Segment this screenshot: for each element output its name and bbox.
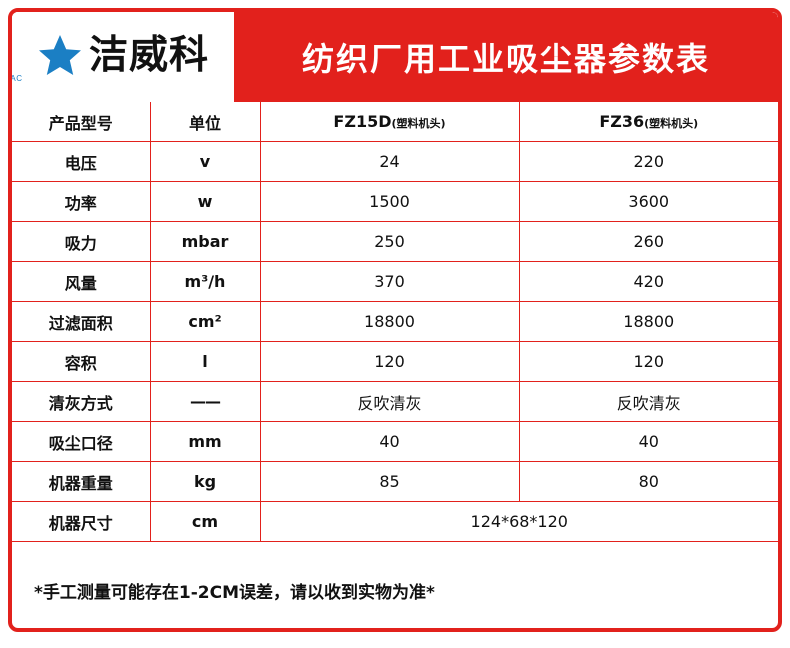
table-row: 吸尘口径 mm 40 40 bbox=[12, 422, 778, 462]
column-header-unit: 单位 bbox=[150, 102, 260, 142]
table-row: 清灰方式 —— 反吹清灰 反吹清灰 bbox=[12, 382, 778, 422]
row-unit: m³/h bbox=[150, 262, 260, 302]
row-label: 风量 bbox=[12, 262, 150, 302]
table-row-merged: 机器尺寸 cm 124*68*120 bbox=[12, 502, 778, 542]
logo-text-en: CLEANVAC bbox=[8, 74, 23, 83]
row-label: 过滤面积 bbox=[12, 302, 150, 342]
row-label: 吸力 bbox=[12, 222, 150, 262]
row-label: 容积 bbox=[12, 342, 150, 382]
row-unit: kg bbox=[150, 462, 260, 502]
row-value-fz15d: 40 bbox=[260, 422, 519, 462]
table-header-row: 产品型号 单位 FZ15D(塑料机头) FZ36(塑料机头) bbox=[12, 102, 778, 142]
row-value-fz15d: 370 bbox=[260, 262, 519, 302]
row-value-fz15d: 250 bbox=[260, 222, 519, 262]
row-value-fz15d: 18800 bbox=[260, 302, 519, 342]
spec-table: 产品型号 单位 FZ15D(塑料机头) FZ36(塑料机头) 电压 v 24 2… bbox=[12, 102, 778, 542]
row-label: 机器重量 bbox=[12, 462, 150, 502]
table-row: 风量 m³/h 370 420 bbox=[12, 262, 778, 302]
row-unit: v bbox=[150, 142, 260, 182]
row-value-fz36: 120 bbox=[519, 342, 778, 382]
title-banner: 纺织厂用工业吸尘器参数表 bbox=[234, 12, 778, 102]
row-unit: —— bbox=[150, 382, 260, 422]
table-row: 过滤面积 cm² 18800 18800 bbox=[12, 302, 778, 342]
table-row: 电压 v 24 220 bbox=[12, 142, 778, 182]
row-value-fz36: 220 bbox=[519, 142, 778, 182]
row-value-fz36: 80 bbox=[519, 462, 778, 502]
row-value-fz36: 18800 bbox=[519, 302, 778, 342]
row-value-fz36: 40 bbox=[519, 422, 778, 462]
footnote: *手工测量可能存在1-2CM误差，请以收到实物为准* bbox=[12, 542, 778, 632]
star-icon bbox=[37, 32, 83, 78]
table-row: 机器重量 kg 85 80 bbox=[12, 462, 778, 502]
row-label: 功率 bbox=[12, 182, 150, 222]
model-suffix-1: (塑料机头) bbox=[392, 117, 446, 130]
row-unit: cm bbox=[150, 502, 260, 542]
column-header-fz36: FZ36(塑料机头) bbox=[519, 102, 778, 142]
model-suffix-2: (塑料机头) bbox=[644, 117, 698, 130]
page-title: 纺织厂用工业吸尘器参数表 bbox=[302, 34, 710, 80]
row-unit: l bbox=[150, 342, 260, 382]
row-unit: w bbox=[150, 182, 260, 222]
spec-sheet: 洁威科 CLEANVAC 纺织厂用工业吸尘器参数表 产品型号 单位 FZ15D(… bbox=[0, 0, 790, 648]
column-header-fz15d: FZ15D(塑料机头) bbox=[260, 102, 519, 142]
model-name-2: FZ36 bbox=[599, 112, 644, 131]
column-header-model: 产品型号 bbox=[12, 102, 150, 142]
row-value-fz36: 3600 bbox=[519, 182, 778, 222]
row-value-fz36: 260 bbox=[519, 222, 778, 262]
row-value-fz15d: 24 bbox=[260, 142, 519, 182]
logo-text-cn: 洁威科 bbox=[89, 36, 209, 75]
row-label: 电压 bbox=[12, 142, 150, 182]
table-row: 容积 l 120 120 bbox=[12, 342, 778, 382]
model-name-1: FZ15D bbox=[333, 112, 391, 131]
row-value-fz36: 420 bbox=[519, 262, 778, 302]
table-row: 功率 w 1500 3600 bbox=[12, 182, 778, 222]
row-label: 机器尺寸 bbox=[12, 502, 150, 542]
spec-frame: 洁威科 CLEANVAC 纺织厂用工业吸尘器参数表 产品型号 单位 FZ15D(… bbox=[8, 8, 782, 632]
row-value-fz15d: 120 bbox=[260, 342, 519, 382]
row-label: 清灰方式 bbox=[12, 382, 150, 422]
table-row: 吸力 mbar 250 260 bbox=[12, 222, 778, 262]
header: 洁威科 CLEANVAC 纺织厂用工业吸尘器参数表 bbox=[12, 12, 778, 102]
logo: 洁威科 CLEANVAC bbox=[12, 12, 234, 102]
row-label: 吸尘口径 bbox=[12, 422, 150, 462]
row-value-fz15d: 1500 bbox=[260, 182, 519, 222]
row-unit: cm² bbox=[150, 302, 260, 342]
row-value-fz15d: 85 bbox=[260, 462, 519, 502]
row-value-dimensions: 124*68*120 bbox=[260, 502, 778, 542]
row-unit: mbar bbox=[150, 222, 260, 262]
row-unit: mm bbox=[150, 422, 260, 462]
row-value-fz15d: 反吹清灰 bbox=[260, 382, 519, 422]
row-value-fz36: 反吹清灰 bbox=[519, 382, 778, 422]
